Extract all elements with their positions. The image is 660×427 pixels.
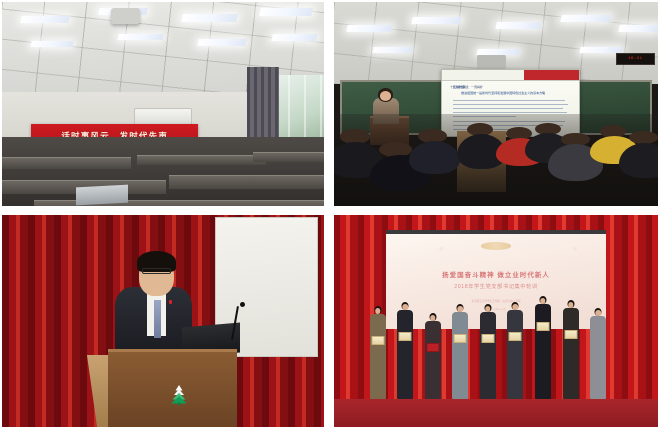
- laptop: [76, 184, 128, 205]
- slide-subtitle: 推进祖国统一是新时代坚持和发展中国特色社会主义的基本方略: [461, 91, 545, 95]
- group-award-photo[interactable]: ❄ ❄ 扬爱国奋斗精神 做立业时代新人 2018年学生党支部书记集中轮训 北京理…: [334, 215, 658, 427]
- lecture-desks: [2, 137, 324, 206]
- led-clock-display: 16:21: [616, 53, 655, 65]
- ceiling-projector-icon: [111, 8, 140, 24]
- audience: [334, 114, 658, 206]
- photo-collage: 话时事风云，发时代先声 ——北京理工大学第十五届学生时事论坛暨学生理论宣讲比赛决…: [0, 0, 660, 427]
- presenter-face: [380, 91, 391, 101]
- pine-tree-emblem-icon: [169, 384, 189, 406]
- led-clock-text: 16:21: [628, 57, 643, 61]
- slide-header-bar: [442, 70, 579, 80]
- classroom-audience-photo[interactable]: 话时事风云，发时代先声 ——北京理工大学第十五届学生时事论坛暨学生理论宣讲比赛决…: [2, 2, 324, 206]
- award-recipients: [334, 215, 658, 427]
- lecture-presentation-photo[interactable]: 十九大报告解读：“一国两制” 宣讲内容： 推进祖国统一是新时代坚持和发展中国特色…: [334, 2, 658, 206]
- slide-title: 宣讲内容：: [453, 85, 468, 89]
- window: [272, 75, 324, 144]
- speaker-tie: [154, 300, 161, 338]
- glasses-icon: [142, 268, 171, 274]
- ceiling-projector-icon: [477, 55, 506, 69]
- speaker-podium-photo[interactable]: [2, 215, 324, 427]
